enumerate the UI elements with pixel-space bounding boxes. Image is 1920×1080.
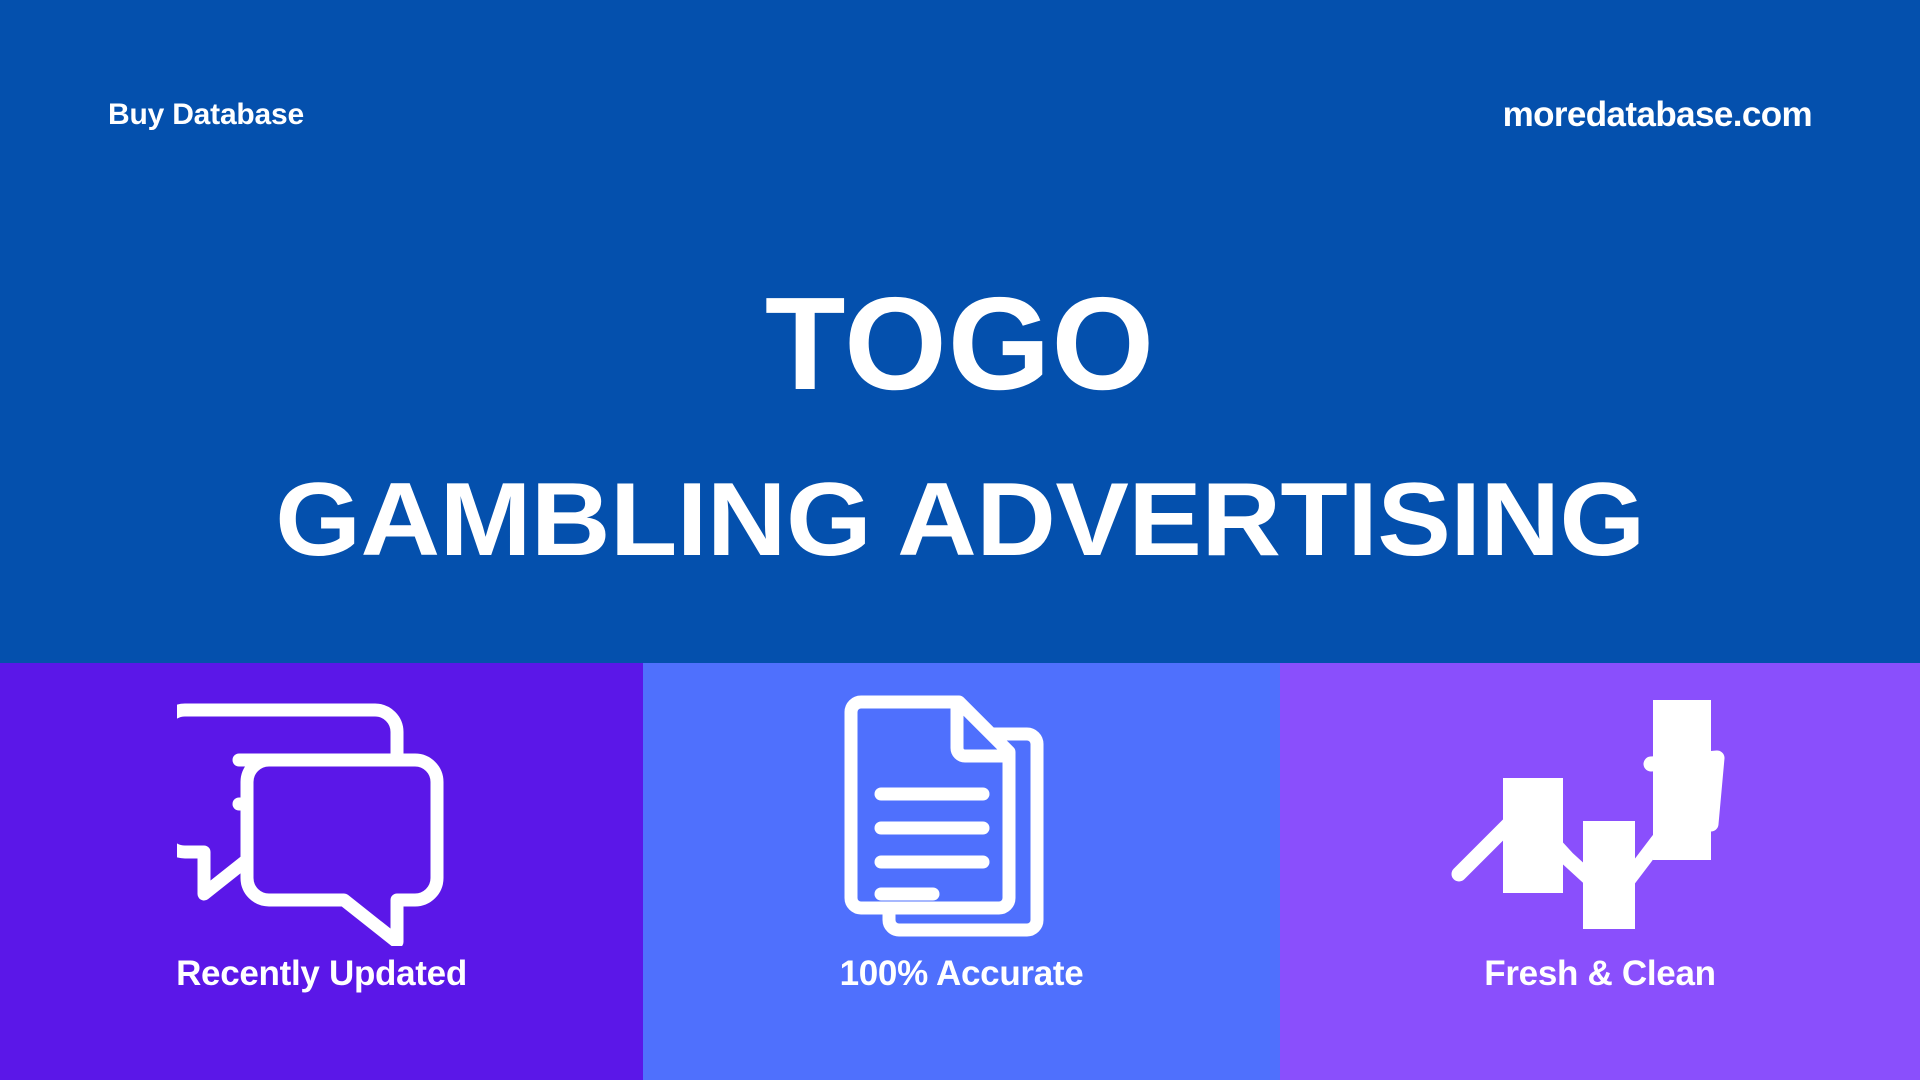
page-title: TOGO xyxy=(0,278,1920,410)
documents-icon xyxy=(837,688,1087,946)
hero-topbar: Buy Database moredatabase.com xyxy=(0,0,1920,230)
feature-label-accurate: 100% Accurate xyxy=(840,954,1084,994)
chat-bubbles-icon xyxy=(177,688,467,946)
feature-panel-accurate: 100% Accurate xyxy=(643,663,1280,1080)
bar-chart-growth-icon xyxy=(1445,688,1755,946)
feature-label-fresh-clean: Fresh & Clean xyxy=(1484,954,1715,994)
page-subtitle: GAMBLING ADVERTISING xyxy=(0,410,1920,572)
promo-banner: Buy Database moredatabase.com TOGO GAMBL… xyxy=(0,0,1920,1080)
hero-section: Buy Database moredatabase.com TOGO GAMBL… xyxy=(0,0,1920,663)
feature-label-recently-updated: Recently Updated xyxy=(176,954,467,994)
feature-panel-fresh-clean: Fresh & Clean xyxy=(1280,663,1920,1080)
hero-headings: TOGO GAMBLING ADVERTISING xyxy=(0,278,1920,572)
brand-name: Buy Database xyxy=(108,98,304,132)
feature-panel-recently-updated: Recently Updated xyxy=(0,663,643,1080)
website-url: moredatabase.com xyxy=(1503,95,1812,135)
feature-panels: Recently Updated 100% Acc xyxy=(0,663,1920,1080)
